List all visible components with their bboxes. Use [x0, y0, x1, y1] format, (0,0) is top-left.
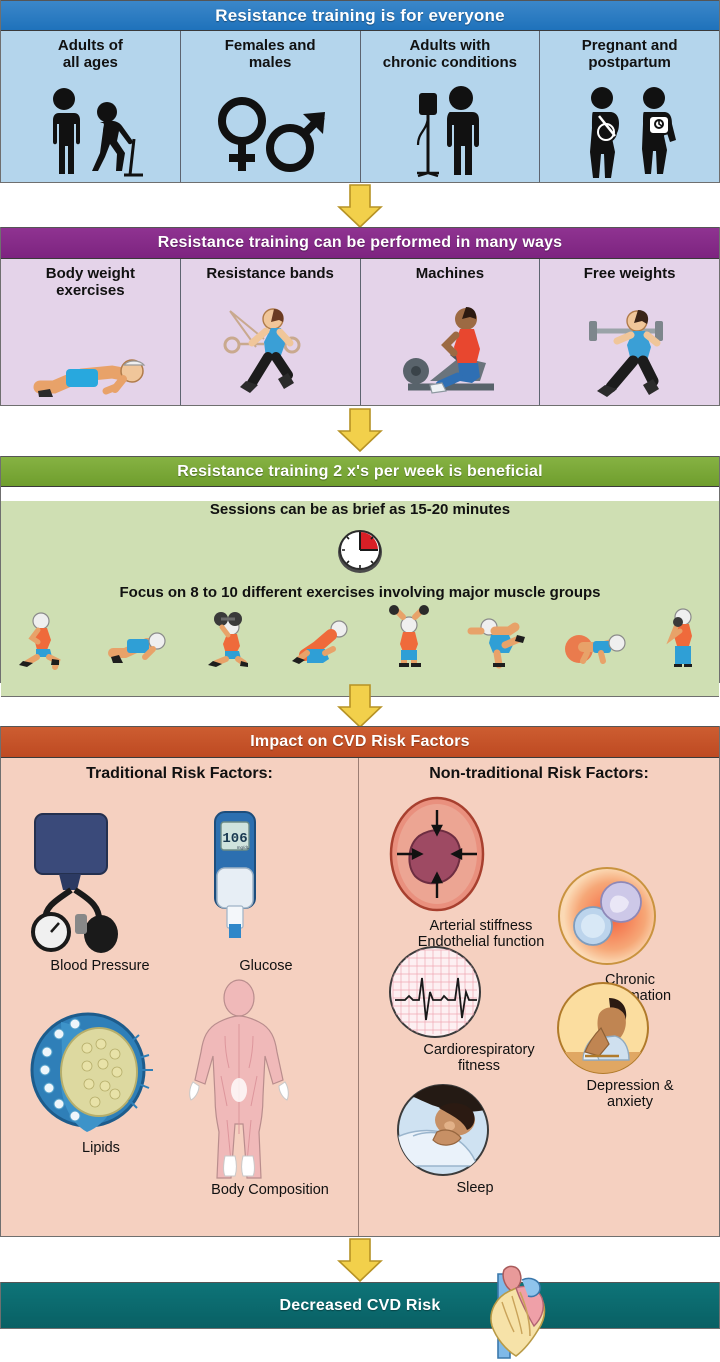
modality-label-3: Free weights — [584, 265, 676, 282]
ecg-trace-icon — [387, 944, 483, 1040]
dose-body: Sessions can be as brief as 15-20 minute… — [1, 501, 719, 697]
outcome-header: Decreased CVD Risk — [1, 1282, 719, 1329]
caption-lipids: Lipids — [21, 1140, 181, 1156]
stability-ball-bridge-icon — [565, 617, 627, 667]
nontraditional-heading: Non-traditional Risk Factors: — [359, 765, 719, 783]
modalities-header: Resistance training can be performed in … — [1, 227, 719, 259]
pregnant-and-mother-with-baby-icon — [540, 71, 719, 182]
section-dose: Resistance training 2 x's per week is be… — [0, 456, 720, 683]
glucometer-icon: 106 mg/dL — [191, 806, 277, 956]
exercise-icon-row — [1, 601, 719, 667]
venus-and-mars-symbols-icon — [181, 71, 360, 182]
human-heart-icon — [468, 1262, 564, 1362]
caption-cardiorespiratory-fitness: Cardiorespiratory fitness — [387, 1042, 571, 1074]
section-outcome: Decreased CVD Risk — [0, 1282, 720, 1329]
traditional-risk-column: Traditional Risk Factors: Bloo — [1, 758, 359, 1236]
plank-exercise-icon — [1, 299, 180, 405]
section-modalities: Resistance training can be performed in … — [0, 227, 720, 406]
resistance-band-icon — [181, 282, 360, 405]
person-distressed-icon — [555, 980, 651, 1076]
section-impact: Impact on CVD Risk Factors Traditional R… — [0, 726, 720, 1237]
caption-body-composition: Body Composition — [181, 1182, 359, 1198]
audience-label-1: Females and males — [225, 37, 316, 71]
risk-item-sleep: Sleep — [395, 1082, 555, 1196]
risk-item-depression-anxiety: Depression & anxiety — [555, 980, 705, 1110]
caption-blood-pressure: Blood Pressure — [15, 958, 185, 974]
overhead-press-icon — [383, 605, 435, 667]
traditional-heading: Traditional Risk Factors: — [1, 765, 358, 783]
lunge-icon — [15, 611, 73, 667]
dose-line-2: Focus on 8 to 10 different exercises inv… — [1, 584, 719, 601]
impact-body: Traditional Risk Factors: Bloo — [1, 758, 719, 1237]
caption-depression-anxiety: Depression & anxiety — [555, 1078, 705, 1110]
sphygmomanometer-icon — [15, 806, 165, 956]
arrow-impact-to-outcome — [337, 1238, 383, 1282]
barbell-lunge-icon — [540, 282, 719, 405]
audience-label-2: Adults with chronic conditions — [383, 37, 517, 71]
arrow-dose-to-impact — [337, 684, 383, 728]
risk-item-glucose: 106 mg/dL Glucose — [191, 806, 341, 974]
dumbbell-lunge-icon — [201, 609, 259, 667]
modality-column-machines: Machines — [361, 259, 541, 405]
human-body-muscles-icon — [181, 980, 297, 1180]
audience-column-adults: Adults of all ages — [1, 31, 181, 182]
arrow-modalities-to-dose — [337, 408, 383, 452]
audience-column-sexes: Females and males — [181, 31, 361, 182]
bird-dog-icon — [467, 615, 533, 667]
audience-column-chronic: Adults with chronic conditions — [361, 31, 541, 182]
audience-label-3: Pregnant and postpartum — [582, 37, 678, 71]
caption-sleep: Sleep — [395, 1180, 555, 1196]
person-sleeping-icon — [395, 1082, 491, 1178]
audience-label-0: Adults of all ages — [58, 37, 123, 71]
modality-label-0: Body weight exercises — [46, 265, 135, 299]
audience-body: Adults of all ages — [1, 31, 719, 183]
risk-item-blood-pressure: Blood Pressure — [15, 806, 185, 974]
adult-and-elderly-with-cane-icon — [1, 71, 180, 182]
sit-up-icon — [291, 617, 351, 667]
glucose-reading-unit: mg/dL — [237, 845, 250, 850]
modality-column-freeweights: Free weights — [540, 259, 719, 405]
modality-column-bands: Resistance bands — [181, 259, 361, 405]
risk-item-arterial-stiffness: Arterial stiffness Endothelial function — [381, 794, 581, 950]
modality-label-1: Resistance bands — [206, 265, 334, 282]
risk-item-lipids: Lipids — [21, 1008, 181, 1156]
audience-column-pregnant: Pregnant and postpartum — [540, 31, 719, 182]
audience-header: Resistance training is for everyone — [1, 0, 719, 31]
dose-header: Resistance training 2 x's per week is be… — [1, 456, 719, 487]
section-audience: Resistance training is for everyone Adul… — [0, 0, 720, 183]
artery-cross-section-icon — [381, 794, 493, 916]
modality-label-2: Machines — [416, 265, 484, 282]
nontraditional-risk-column: Non-traditional Risk Factors: — [359, 758, 719, 1236]
clock-15-20-minutes-icon — [1, 524, 719, 576]
bicep-curl-icon — [659, 605, 705, 667]
modality-column-bodyweight: Body weight exercises — [1, 259, 181, 405]
infographic-page: Resistance training is for everyone Adul… — [0, 0, 720, 1341]
caption-glucose: Glucose — [191, 958, 341, 974]
lipoprotein-particle-icon — [21, 1008, 156, 1138]
arrow-audience-to-modalities — [337, 184, 383, 228]
impact-header: Impact on CVD Risk Factors — [1, 726, 719, 758]
leg-press-machine-icon — [361, 282, 540, 405]
plank-icon — [105, 611, 169, 667]
risk-item-cardiorespiratory-fitness: Cardiorespiratory fitness — [387, 944, 571, 1074]
patient-with-iv-drip-icon — [361, 71, 540, 182]
risk-item-body-composition: Body Composition — [181, 980, 359, 1198]
modalities-body: Body weight exercises — [1, 259, 719, 406]
dose-line-1: Sessions can be as brief as 15-20 minute… — [1, 501, 719, 518]
